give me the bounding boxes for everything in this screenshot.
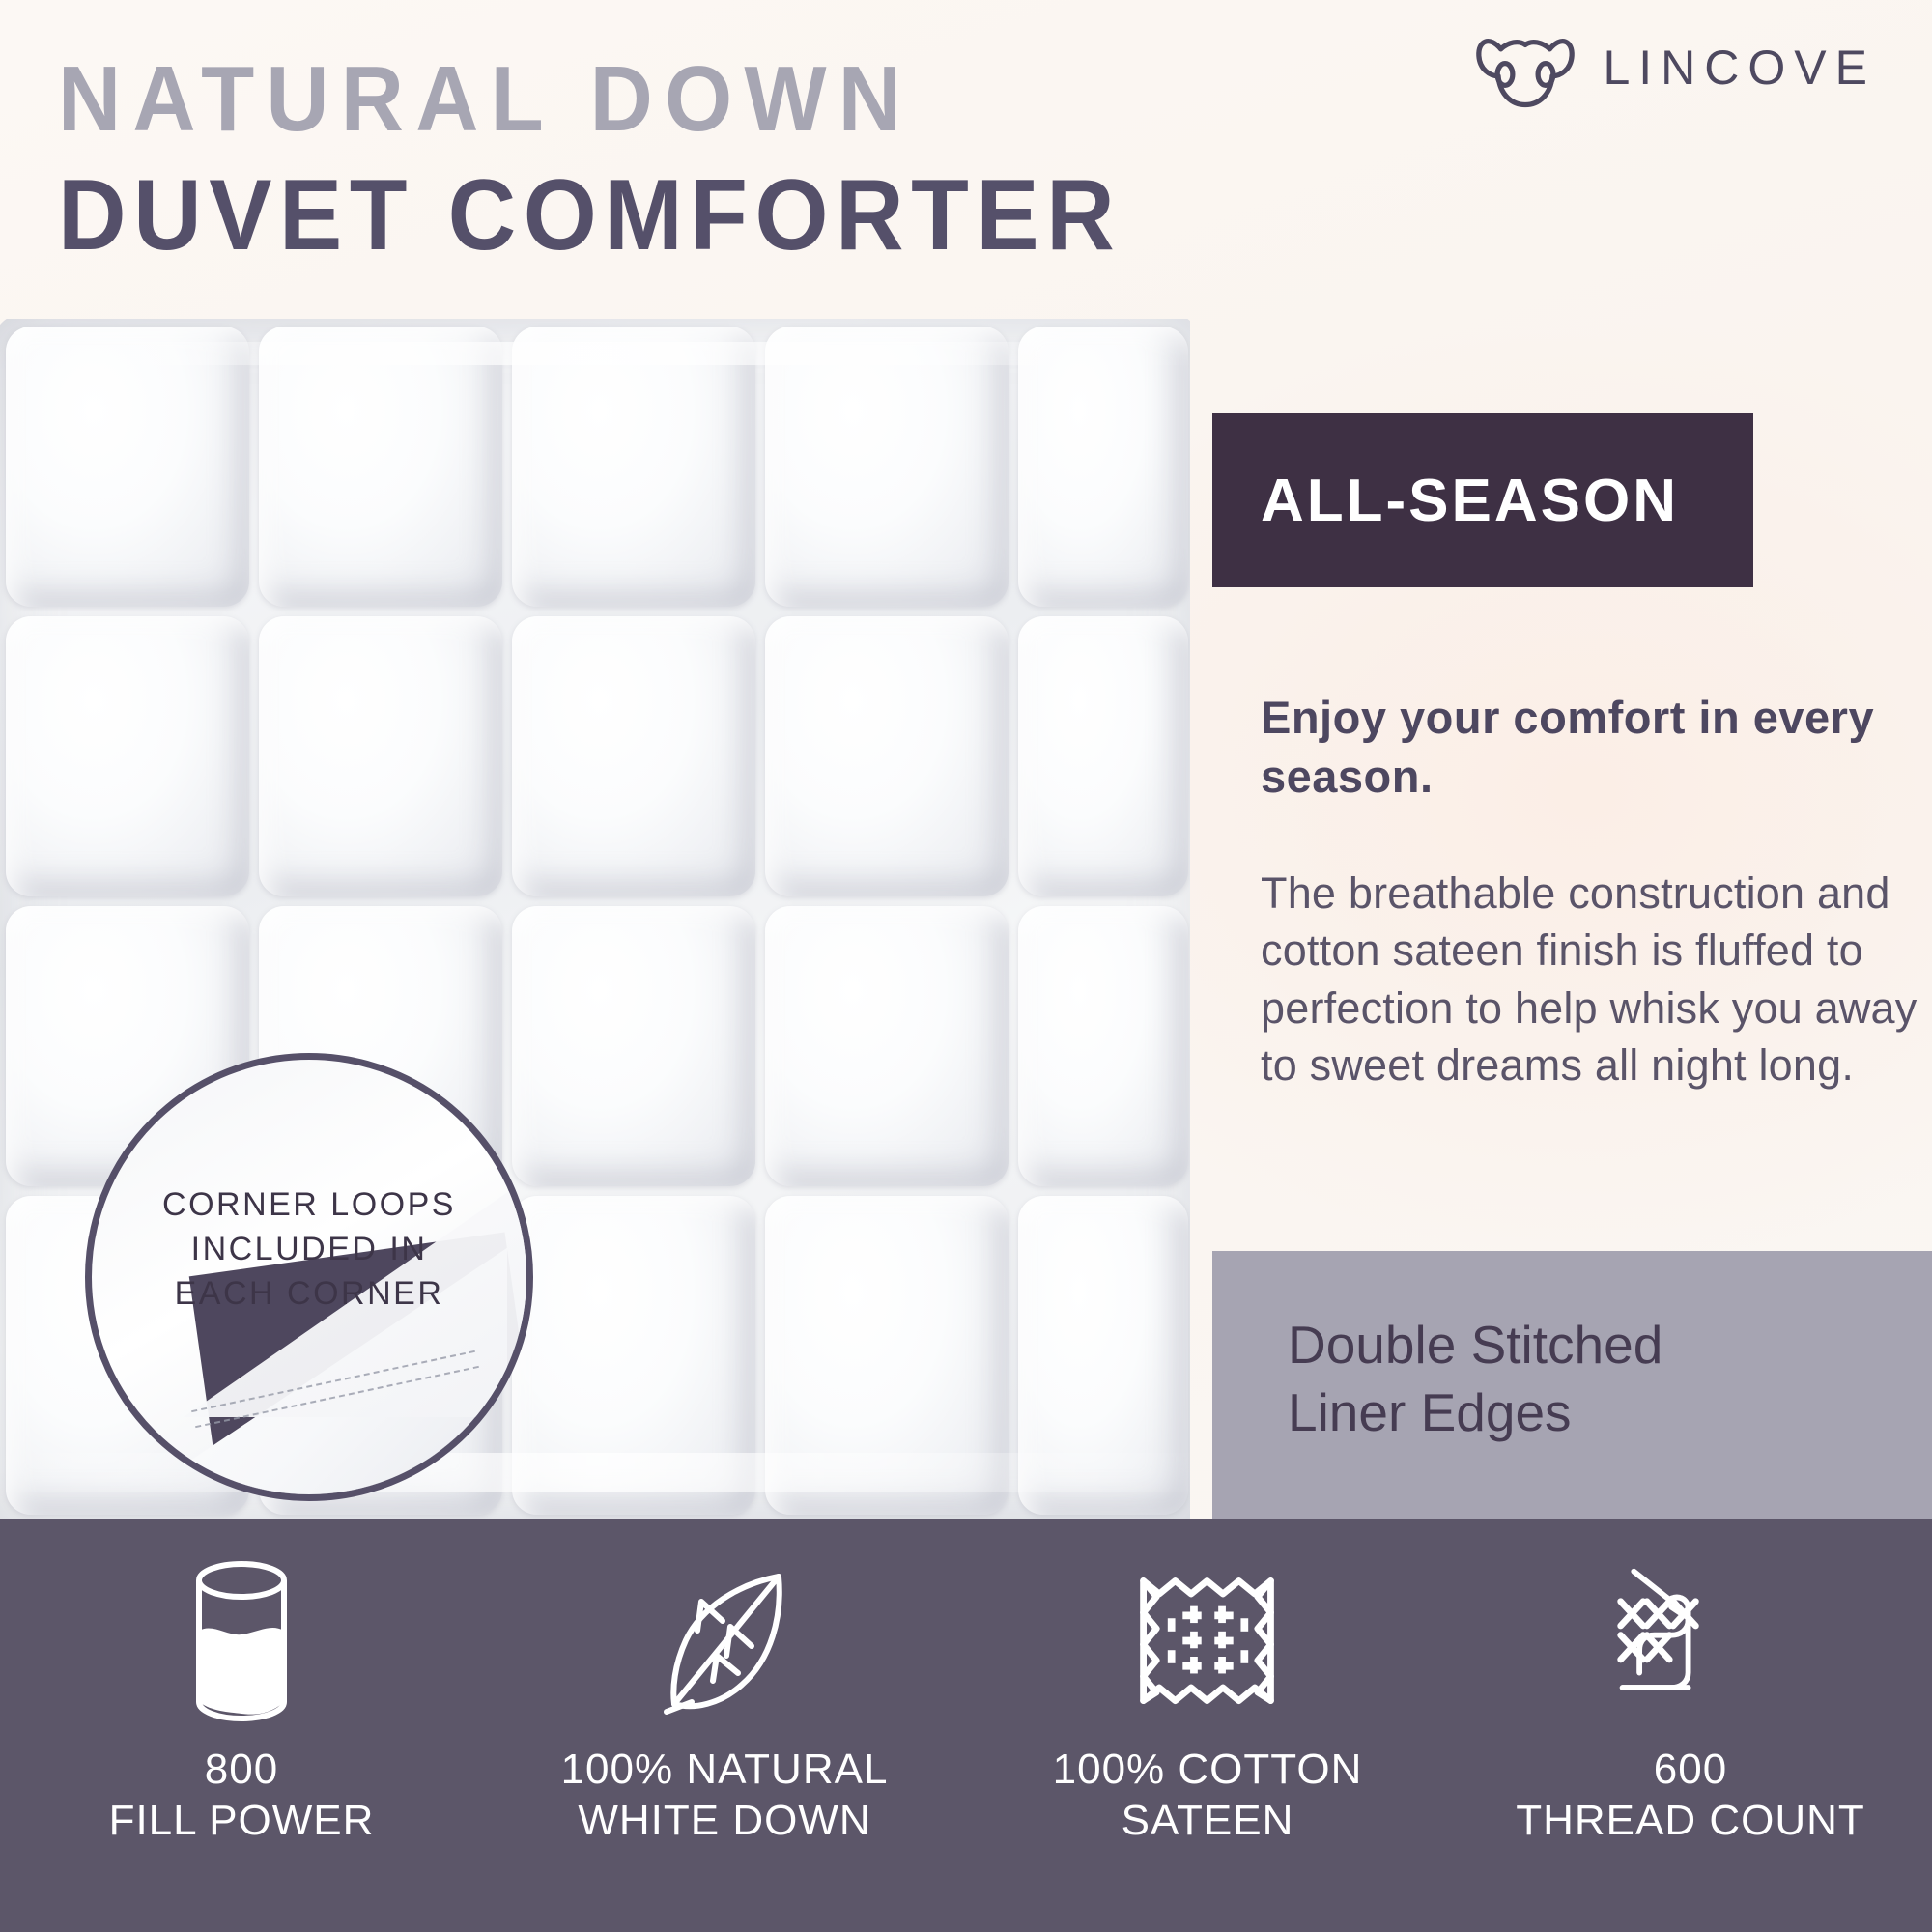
quilt-cell xyxy=(259,616,502,896)
fabric-swatch-icon xyxy=(1128,1559,1288,1723)
quilt-cell xyxy=(765,1196,1009,1515)
liner-edges-text: Double Stitched Liner Edges xyxy=(1288,1311,1906,1447)
quilt-cell xyxy=(259,327,502,607)
badge-label: ALL-SEASON xyxy=(1261,467,1679,535)
quilt-cell xyxy=(6,327,249,607)
feature-thread-count: 600 THREAD COUNT xyxy=(1449,1519,1932,1932)
feature-cotton-sateen: 100% COTTON SATEEN xyxy=(966,1519,1449,1932)
liner-edges-line-1: Double Stitched xyxy=(1288,1311,1906,1378)
quilt-cell xyxy=(512,906,755,1186)
product-photo: CORNER LOOPS INCLUDED IN EACH CORNER xyxy=(0,319,1190,1521)
callout-text: CORNER LOOPS INCLUDED IN EACH CORNER xyxy=(92,1183,526,1317)
title-line-1: NATURAL DOWN xyxy=(58,53,1122,146)
needle-thread-stitch-icon xyxy=(1602,1559,1780,1723)
infographic-root: NATURAL DOWN DUVET COMFORTER LINCOVE xyxy=(0,0,1932,1932)
status-badge: ALL-SEASON xyxy=(1212,413,1753,587)
lead-text: Enjoy your comfort in every season. xyxy=(1261,688,1898,806)
callout-line-2: INCLUDED IN xyxy=(92,1228,526,1272)
koala-logo-icon xyxy=(1473,27,1577,108)
liner-edges-line-2: Liner Edges xyxy=(1288,1378,1906,1446)
quilt-cell xyxy=(765,327,1009,607)
feature-natural-white-down: 100% NATURAL WHITE DOWN xyxy=(483,1519,966,1932)
liner-edges-band: Double Stitched Liner Edges xyxy=(1212,1251,1932,1519)
quilt-cell xyxy=(765,906,1009,1186)
brand-name: LINCOVE xyxy=(1603,40,1876,96)
quilt-cell xyxy=(512,616,755,896)
header: NATURAL DOWN DUVET COMFORTER LINCOVE xyxy=(0,0,1932,319)
title-line-2: DUVET COMFORTER xyxy=(58,165,1122,266)
corner-loop-callout: CORNER LOOPS INCLUDED IN EACH CORNER xyxy=(85,1053,533,1501)
page-title: NATURAL DOWN DUVET COMFORTER xyxy=(58,53,1190,266)
body-text: The breathable construction and cotton s… xyxy=(1261,865,1927,1094)
brand-logo: LINCOVE xyxy=(1473,27,1876,108)
quilt-cell xyxy=(1018,906,1188,1186)
fill-power-cylinder-icon xyxy=(184,1559,299,1723)
feature-label: 600 THREAD COUNT xyxy=(1516,1745,1865,1847)
feature-label: 100% NATURAL WHITE DOWN xyxy=(561,1745,889,1847)
feature-label: 800 FILL POWER xyxy=(109,1745,375,1847)
quilt-cell xyxy=(1018,1196,1188,1515)
quilt-cell xyxy=(512,327,755,607)
feature-label: 100% COTTON SATEEN xyxy=(1053,1745,1363,1847)
quilt-cell xyxy=(512,1196,755,1515)
quilt-cell xyxy=(1018,327,1188,607)
quilt-cell xyxy=(6,616,249,896)
quilt-cell xyxy=(1018,616,1188,896)
callout-line-3: EACH CORNER xyxy=(92,1272,526,1317)
quilt-cell xyxy=(765,616,1009,896)
callout-line-1: CORNER LOOPS xyxy=(92,1183,526,1228)
feature-strip: 800 FILL POWER 100% NATURAL WHITE DOWN xyxy=(0,1519,1932,1932)
feature-fill-power: 800 FILL POWER xyxy=(0,1519,483,1932)
feather-icon xyxy=(638,1559,811,1723)
